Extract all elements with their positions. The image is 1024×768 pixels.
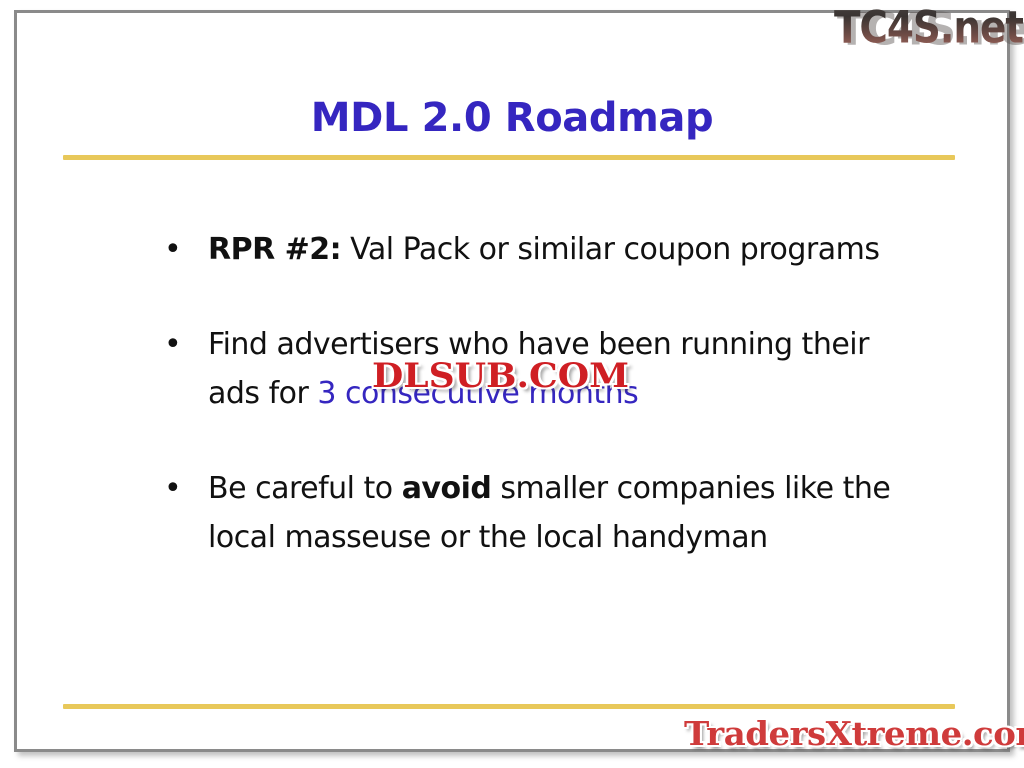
list-item-segment-bold: avoid <box>402 471 492 506</box>
list-item-segment-bold: RPR #2: <box>208 232 341 267</box>
list-item-text: Be careful to avoid smaller companies li… <box>208 471 890 555</box>
divider-rule-bottom <box>63 704 955 709</box>
divider-rule-top <box>63 155 955 160</box>
list-item: • RPR #2: Val Pack or similar coupon pro… <box>0 225 1024 274</box>
watermark-bottom-right: TradersXtreme.com <box>684 714 1024 753</box>
bullet-marker-icon: • <box>164 320 181 369</box>
list-item-segment-normal: Val Pack or similar coupon programs <box>341 232 879 267</box>
watermark-center: DLSUB.COM <box>372 356 629 396</box>
list-item-segment-normal: Be careful to <box>208 471 402 506</box>
bullet-list: • RPR #2: Val Pack or similar coupon pro… <box>0 225 1024 608</box>
page-title: MDL 2.0 Roadmap <box>0 95 1024 141</box>
list-item: • Be careful to avoid smaller companies … <box>0 464 1024 562</box>
list-item-text: RPR #2: Val Pack or similar coupon progr… <box>208 232 880 267</box>
bullet-marker-icon: • <box>164 464 181 513</box>
bullet-marker-icon: • <box>164 225 181 274</box>
watermark-top-right: TC4S.net <box>834 2 1023 54</box>
